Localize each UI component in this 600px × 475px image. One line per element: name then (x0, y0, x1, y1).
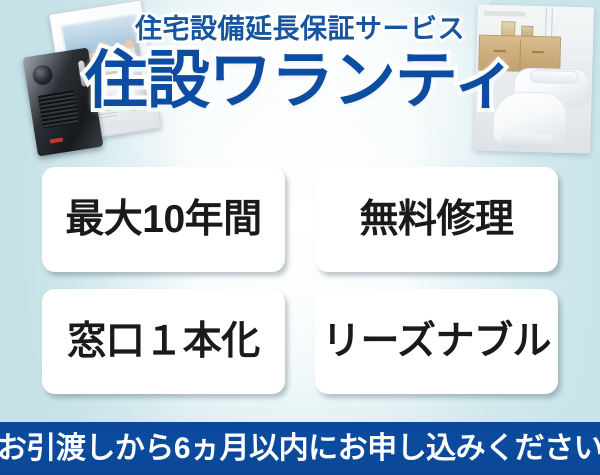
feature-card-label: リーズナブル (322, 322, 551, 361)
feature-card-free-repair[interactable]: 無料修理 (315, 167, 558, 272)
feature-card-grid: 最大10年間 無料修理 窓口１本化 リーズナブル (42, 167, 558, 394)
banner-subtitle: 住宅設備延長保証サービス (0, 16, 600, 43)
banner-title: 住設ワランティ (0, 49, 600, 113)
feature-card-label: 無料修理 (359, 200, 513, 239)
cta-bar[interactable]: お引渡しから6ヵ月以内にお申し込みください (0, 422, 600, 475)
cta-text: お引渡しから6ヵ月以内にお申し込みください (0, 434, 600, 464)
headline-block: 住宅設備延長保証サービス 住設ワランティ (0, 16, 600, 113)
outdoor-call-button (50, 138, 63, 144)
feature-card-single-contact[interactable]: 窓口１本化 (42, 289, 285, 394)
feature-card-max-years[interactable]: 最大10年間 (42, 167, 285, 272)
feature-card-reasonable[interactable]: リーズナブル (315, 289, 558, 394)
feature-card-label: 最大10年間 (65, 200, 261, 239)
promo-banner: 住宅設備延長保証サービス 住設ワランティ 最大10年間 無料修理 窓口１本化 リ… (0, 0, 600, 475)
feature-card-label: 窓口１本化 (67, 322, 260, 361)
toilet-base (500, 133, 552, 148)
